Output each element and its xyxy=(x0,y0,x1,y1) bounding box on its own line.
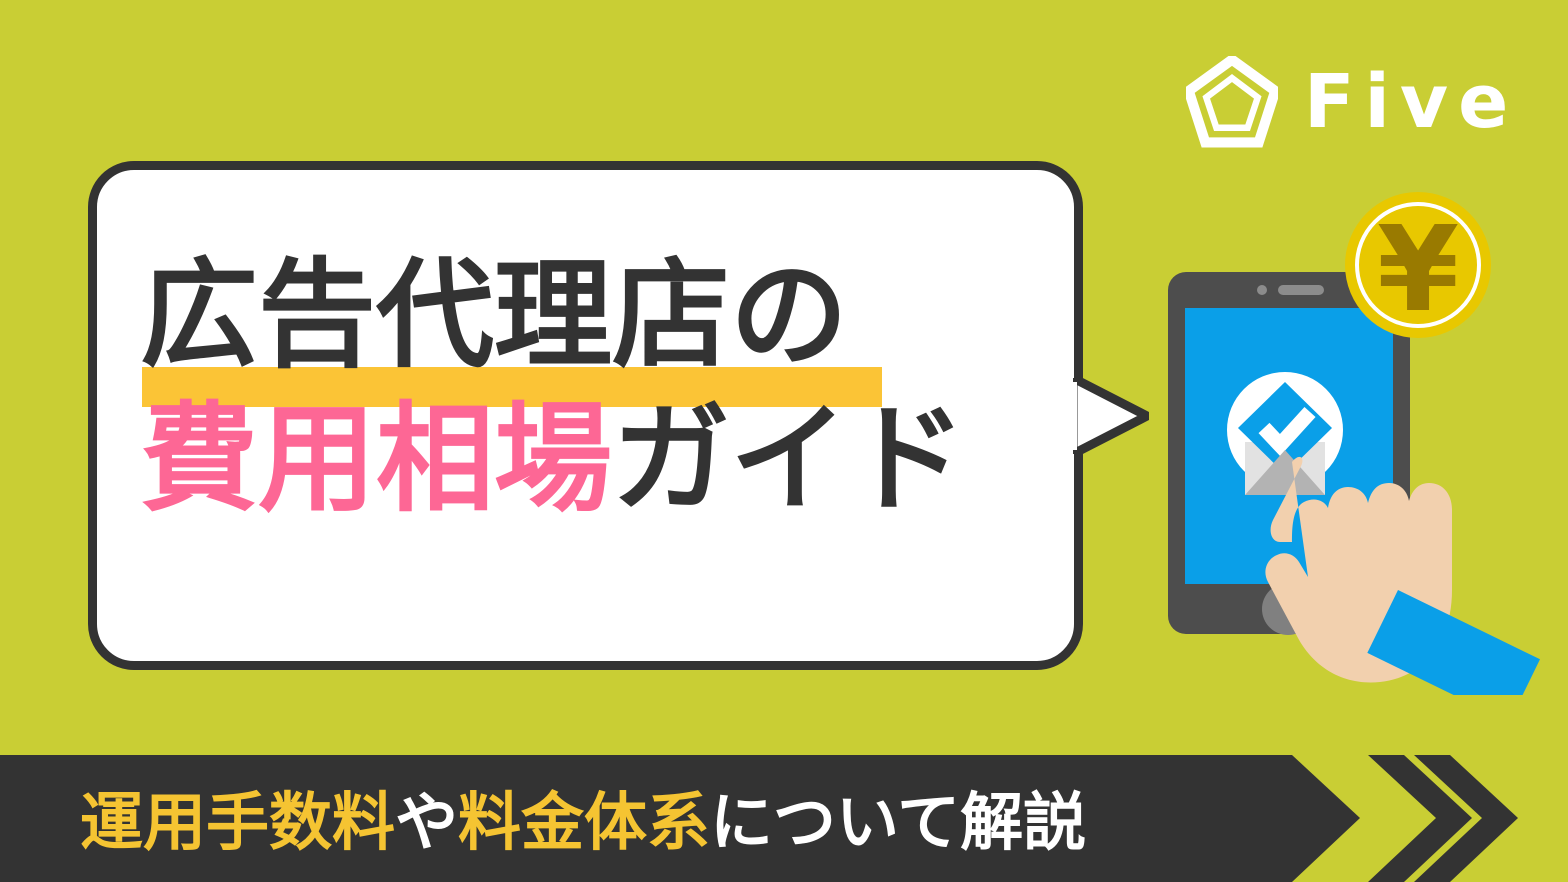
headline-block: 広告代理店の 費用相場ガイド xyxy=(140,255,1040,520)
brand-logo-text: Five xyxy=(1304,65,1518,139)
headline-line-2: 費用相場ガイド xyxy=(140,399,1040,521)
headline-line-1-text: 広告代理店の xyxy=(140,246,848,384)
subheadline-part-3: 料金体系 xyxy=(458,791,710,854)
headline-line-1-wrap: 広告代理店の xyxy=(140,255,1040,377)
yen-symbol: ¥ xyxy=(1377,200,1459,338)
smartphone-tap-illustration: ¥ xyxy=(1140,190,1565,695)
subheadline-part-4: について解説 xyxy=(710,791,1086,854)
headline-line-2-rest: ガイド xyxy=(612,390,966,528)
subheadline-part-2: や xyxy=(395,791,458,854)
pentagon-logo-icon xyxy=(1186,56,1278,148)
brand-logo[interactable]: Five xyxy=(1186,56,1518,148)
headline-line-1: 広告代理店の xyxy=(140,255,848,377)
banner-root: Five 広告代理店の 費用相場ガイド xyxy=(0,0,1568,882)
speech-bubble-tail-icon xyxy=(1073,378,1149,454)
headline-emphasis-text: 費用相場 xyxy=(140,390,612,528)
phone-camera-icon xyxy=(1257,285,1267,295)
subheadline-part-1: 運用手数料 xyxy=(80,791,395,854)
subheadline: 運用手数料や料金体系について解説 xyxy=(80,782,1086,862)
phone-speaker-icon xyxy=(1278,285,1324,295)
